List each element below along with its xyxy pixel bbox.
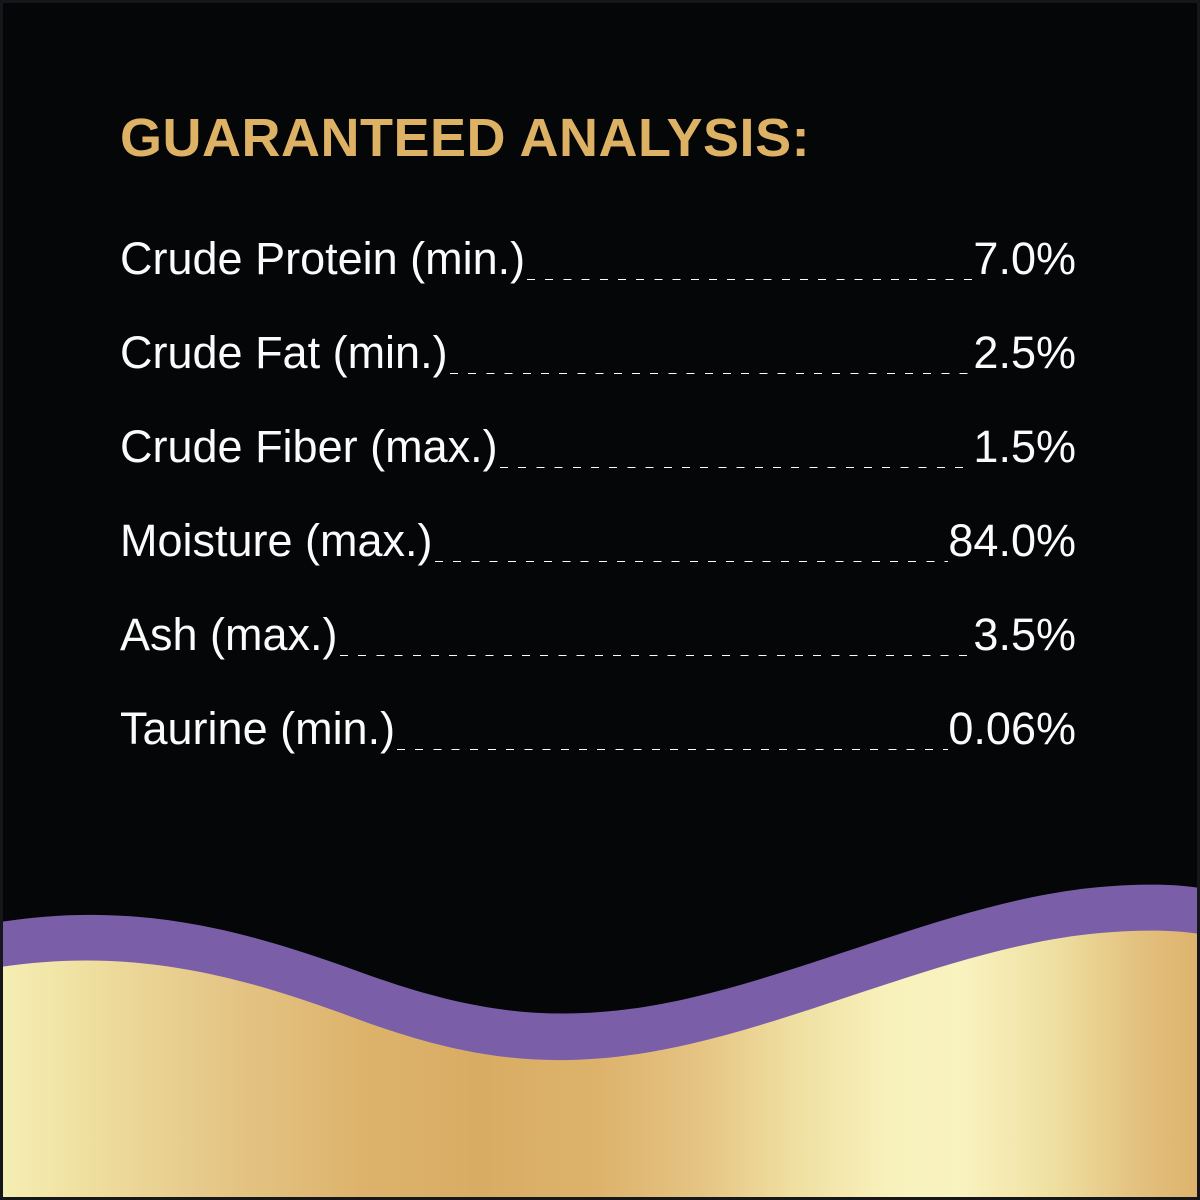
- dot-leader: [448, 373, 974, 374]
- table-row: Ash (max.) 3.5%: [120, 588, 1076, 682]
- nutrient-value: 84.0%: [948, 494, 1076, 588]
- table-row: Crude Protein (min.) 7.0%: [120, 212, 1076, 306]
- gold-wave-shape: [0, 931, 1200, 1200]
- dot-leader: [338, 655, 974, 656]
- dot-leader: [433, 561, 949, 562]
- nutrient-label: Moisture (max.): [120, 494, 433, 588]
- table-row: Crude Fiber (max.) 1.5%: [120, 400, 1076, 494]
- table-row: Taurine (min.) 0.06%: [120, 682, 1076, 776]
- nutrient-value: 7.0%: [973, 212, 1076, 306]
- table-row: Moisture (max.) 84.0%: [120, 494, 1076, 588]
- nutrient-value: 2.5%: [973, 306, 1076, 400]
- nutrient-label: Ash (max.): [120, 588, 338, 682]
- nutrient-label: Crude Protein (min.): [120, 212, 525, 306]
- nutrient-value: 1.5%: [973, 400, 1076, 494]
- nutrient-value: 0.06%: [948, 682, 1076, 776]
- dot-leader: [525, 279, 973, 280]
- dot-leader: [498, 467, 974, 468]
- dot-leader: [395, 749, 948, 750]
- nutrient-table: Crude Protein (min.) 7.0% Crude Fat (min…: [120, 212, 1076, 776]
- page-title: GUARANTEED ANALYSIS:: [120, 108, 810, 168]
- table-row: Crude Fat (min.) 2.5%: [120, 306, 1076, 400]
- decorative-wave-band: [0, 880, 1200, 1200]
- nutrient-value: 3.5%: [973, 588, 1076, 682]
- nutrient-label: Taurine (min.): [120, 682, 395, 776]
- nutrient-label: Crude Fat (min.): [120, 306, 448, 400]
- guaranteed-analysis-panel: GUARANTEED ANALYSIS: Crude Protein (min.…: [0, 0, 1200, 1200]
- nutrient-label: Crude Fiber (max.): [120, 400, 498, 494]
